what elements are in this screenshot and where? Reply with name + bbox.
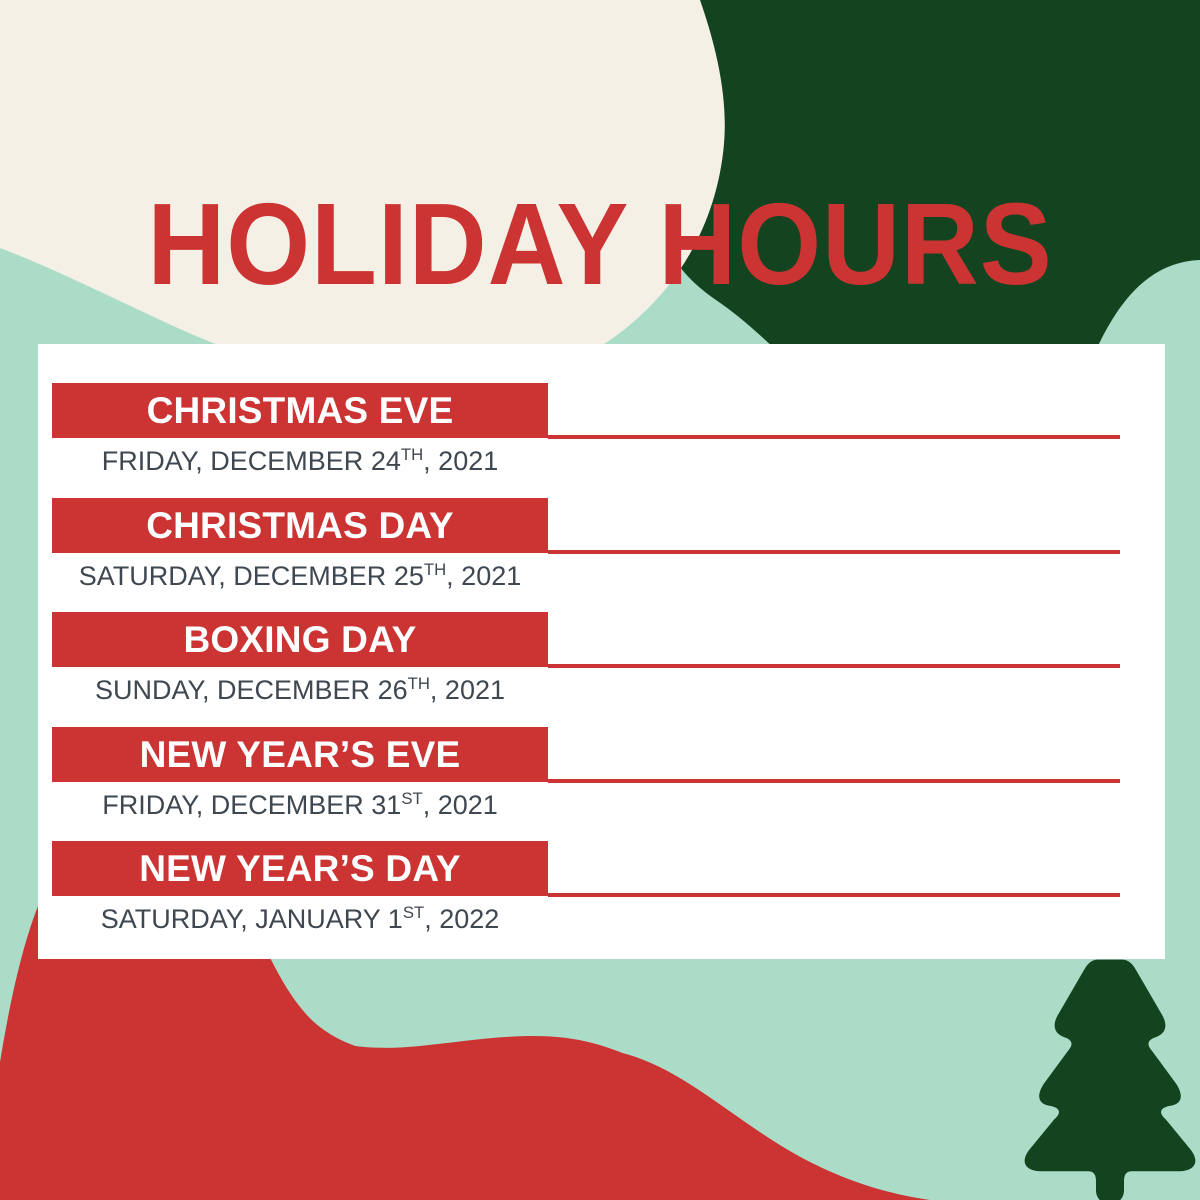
holiday-date-day: 26 [378, 675, 408, 705]
holiday-row: BOXING DAY SUNDAY, DECEMBER 26TH, 2021 [38, 605, 1165, 720]
holiday-name-label: BOXING DAY [184, 621, 417, 658]
holiday-name-label: CHRISTMAS EVE [147, 392, 454, 429]
holiday-date-weekday: SUNDAY, DECEMBER [95, 675, 378, 705]
holiday-date-year: , 2021 [423, 790, 498, 820]
holiday-hours-poster: HOLIDAY HOURS CHRISTMAS EVE FRIDAY, DECE… [0, 0, 1200, 1200]
holiday-date-weekday: FRIDAY, DECEMBER [102, 790, 371, 820]
holiday-date-year: , 2021 [430, 675, 505, 705]
holiday-date-year: , 2022 [424, 904, 499, 934]
holiday-date-weekday: FRIDAY, DECEMBER [102, 446, 371, 476]
holiday-date-ordinal: TH [401, 445, 423, 464]
holiday-name-banner: NEW YEAR’S DAY [52, 841, 548, 896]
holiday-date-weekday: SATURDAY, JANUARY [101, 904, 388, 934]
holiday-name-label: NEW YEAR’S EVE [140, 736, 461, 773]
holiday-row: CHRISTMAS DAY SATURDAY, DECEMBER 25TH, 2… [38, 491, 1165, 606]
holiday-name-banner: BOXING DAY [52, 612, 548, 667]
hours-card: CHRISTMAS EVE FRIDAY, DECEMBER 24TH, 202… [38, 344, 1165, 959]
holiday-row: NEW YEAR’S DAY SATURDAY, JANUARY 1ST, 20… [38, 834, 1165, 949]
holiday-date-year: , 2021 [423, 446, 498, 476]
holiday-date-label: FRIDAY, DECEMBER 24TH, 2021 [52, 444, 548, 478]
holiday-name-label: CHRISTMAS DAY [146, 507, 454, 544]
holiday-date-label: SATURDAY, JANUARY 1ST, 2022 [52, 902, 548, 936]
holiday-name-banner: NEW YEAR’S EVE [52, 727, 548, 782]
holiday-name-label: NEW YEAR’S DAY [139, 850, 461, 887]
holiday-rows-list: CHRISTMAS EVE FRIDAY, DECEMBER 24TH, 202… [38, 344, 1165, 959]
page-title: HOLIDAY HOURS [42, 186, 1158, 302]
holiday-date-ordinal: TH [424, 560, 446, 579]
holiday-name-banner: CHRISTMAS EVE [52, 383, 548, 438]
hours-write-in-rule [548, 664, 1120, 668]
holiday-date-ordinal: ST [403, 903, 424, 922]
hours-write-in-rule [548, 779, 1120, 783]
holiday-name-banner: CHRISTMAS DAY [52, 498, 548, 553]
holiday-date-weekday: SATURDAY, DECEMBER [79, 561, 394, 591]
holiday-date-year: , 2021 [446, 561, 521, 591]
holiday-row: CHRISTMAS EVE FRIDAY, DECEMBER 24TH, 202… [38, 376, 1165, 491]
holiday-date-day: 31 [371, 790, 401, 820]
holiday-date-day: 25 [394, 561, 424, 591]
holiday-row: NEW YEAR’S EVE FRIDAY, DECEMBER 31ST, 20… [38, 720, 1165, 835]
holiday-date-day: 24 [371, 446, 401, 476]
holiday-date-day: 1 [388, 904, 403, 934]
hours-write-in-rule [548, 893, 1120, 897]
hours-write-in-rule [548, 435, 1120, 439]
hours-write-in-rule [548, 550, 1120, 554]
holiday-date-ordinal: ST [401, 789, 422, 808]
holiday-date-ordinal: TH [408, 674, 430, 693]
holiday-date-label: SUNDAY, DECEMBER 26TH, 2021 [52, 673, 548, 707]
holiday-date-label: FRIDAY, DECEMBER 31ST, 2021 [52, 788, 548, 822]
holiday-date-label: SATURDAY, DECEMBER 25TH, 2021 [52, 559, 548, 593]
